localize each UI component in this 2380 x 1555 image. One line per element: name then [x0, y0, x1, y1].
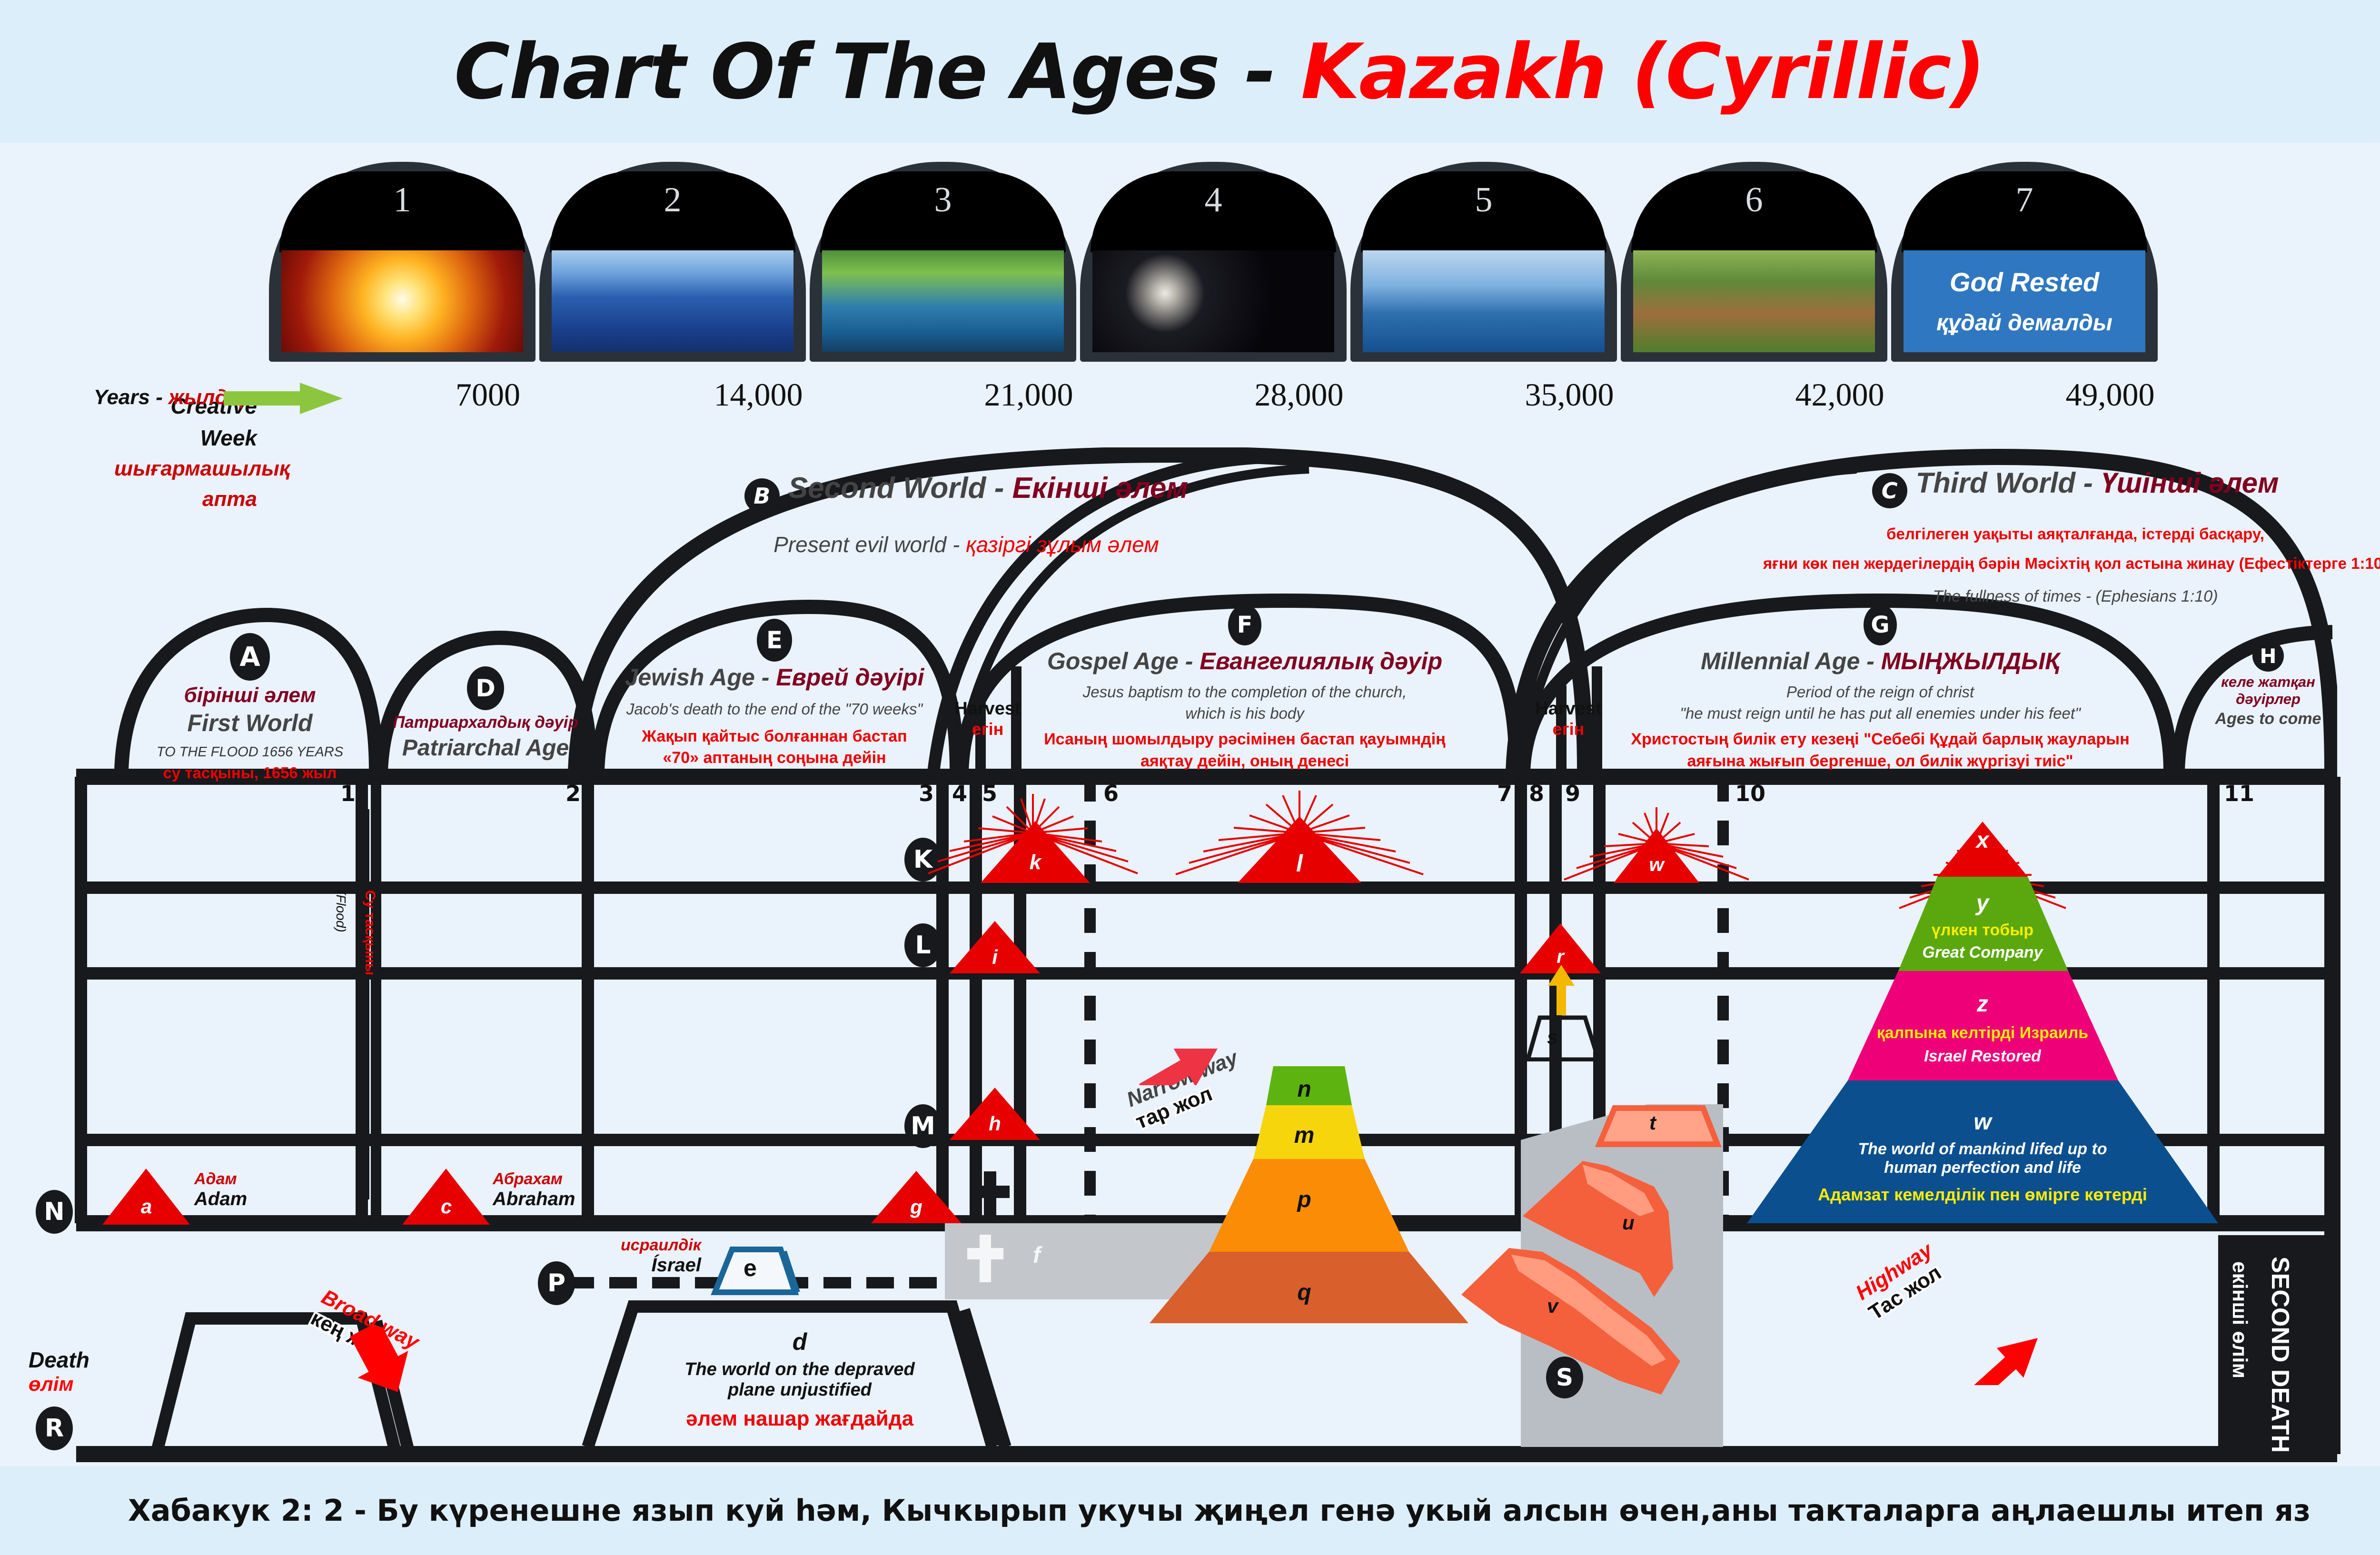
ages-to-come-en: Ages to come [2204, 710, 2332, 728]
creative-day-3: 3 [810, 162, 1076, 362]
israel-label: исраилдік Ísrael [596, 1236, 701, 1276]
gospel-sub-en-2: which is his body [1028, 703, 1461, 724]
death-label: Death өлім [29, 1347, 152, 1396]
marker-letter-v: v [1547, 1295, 1558, 1317]
footer-verse: Хабакук 2: 2 - Бу күренешне язып куй һәм… [0, 1466, 2380, 1555]
adam-label: Адам Adam [194, 1170, 247, 1210]
creative-day-4: 4 [1080, 162, 1347, 362]
pyramid-kz: үлкен тобыр [1932, 921, 2033, 940]
up-arrow-icon [1547, 964, 1576, 1016]
god-rested-kz: құдай демалды [1936, 310, 2112, 336]
marker-letter-t: t [1649, 1111, 1656, 1134]
marker-letter: g [871, 1196, 962, 1218]
third-world-header: CThird World - Үшінші әлем белгілеген уа… [1761, 466, 2380, 606]
jewish-title-en: Jewish Age - [625, 664, 776, 691]
badge-a: A [230, 633, 270, 681]
second-world-sub-en: Present evil world - [773, 532, 966, 557]
pyramid-letter: p [1297, 1187, 1311, 1213]
harvest-label-1: Harvest егін [942, 699, 1033, 739]
first-world-sub-kz: су тасқыны, 1656 жыл [138, 764, 362, 782]
harvest-kz: егін [942, 719, 1033, 739]
flood-label-en: (Flood) [333, 890, 348, 932]
pyramid-letter: w [1973, 1109, 1991, 1135]
marker-letter-u: u [1622, 1211, 1635, 1234]
second-world-title-kz: Екінші әлем [1012, 472, 1189, 505]
harvest-en: Harvest [942, 699, 1033, 719]
pyramid-letter: m [1294, 1122, 1315, 1149]
flood-label-kz: Су тасқыны [362, 890, 378, 975]
column-number-1: 1 [340, 781, 356, 806]
harvest-en: Harvest [1523, 699, 1614, 719]
ages-to-come-kz-2: дәуірлер [2204, 691, 2332, 708]
column-number-9: 9 [1565, 781, 1580, 806]
day-image-land-vegetation [822, 250, 1064, 352]
creative-week-label-kz-2: апта [114, 484, 257, 515]
cross-icon-grey [962, 1233, 1009, 1286]
gospel-title-en: Gospel Age - [1047, 648, 1200, 674]
cross-icon [964, 1169, 1016, 1226]
marker-stone-v [1457, 1238, 1695, 1414]
year-tick: 28,000 [1166, 376, 1432, 414]
pyramid-letter: q [1297, 1279, 1311, 1306]
adam-kz: Адам [194, 1170, 247, 1189]
israel-kz: исраилдік [596, 1236, 701, 1255]
creative-day-2: 2 [539, 162, 806, 362]
death-kz: өлім [29, 1373, 152, 1396]
pyramid-en-1: The world of mankind lifed up to [1858, 1140, 2107, 1159]
marker-letter: l [1238, 850, 1361, 877]
marker-letter: i [950, 946, 1040, 969]
creative-day-5: 5 [1350, 162, 1617, 362]
millennial-title-en: Millennial Age - [1701, 648, 1881, 674]
jewish-sub-kz-2: «70» аптаның соңына дейін [601, 747, 948, 769]
marker-letter: k [981, 851, 1090, 874]
first-world-title-en: First World [138, 709, 362, 737]
second-world-title-en: Second World - [788, 472, 1012, 505]
second-world-sub-kz: қазіргі зұлым әлем [966, 532, 1159, 557]
third-world-kz-line2: яғни көк пен жердегілердің бәрін Мәсіхті… [1761, 550, 2380, 577]
pyramid-seg-n: n [1257, 1075, 1352, 1103]
year-tick: 49,000 [1977, 376, 2243, 414]
badge-d: D [467, 666, 504, 710]
years-axis: Years - жылдар 7000 14,000 21,000 28,000… [0, 376, 2380, 428]
third-world-title-kz: Үшінші әлем [2101, 467, 2279, 499]
abraham-label: Абрахам Abraham [493, 1170, 575, 1210]
year-tick: 35,000 [1436, 376, 1703, 414]
depraved-en-1: The world on the depraved [633, 1359, 966, 1380]
pyramid-letter: y [1976, 890, 1989, 916]
day-number: 6 [1745, 180, 1763, 220]
gospel-sub-en-1: Jesus baptism to the completion of the c… [1028, 682, 1461, 703]
depraved-letter: d [633, 1328, 966, 1356]
marker-trapezoid-t [1595, 1104, 1723, 1147]
god-rested-en: God Rested [1950, 267, 2099, 297]
jewish-sub-en: Jacob's death to the end of the "70 week… [601, 699, 948, 720]
creative-week-section: Creative Week шығармашылық апта 1 2 3 4 [0, 162, 2380, 409]
age-ages-to-come: H келе жатқан дәуірлер Ages to come [2204, 640, 2332, 728]
pyramid-seg-p: p [1257, 1173, 1352, 1226]
creative-day-1: 1 [269, 162, 535, 362]
marker-triangle-a: a [102, 1169, 190, 1225]
day-image-sun-moon [1092, 250, 1334, 352]
harvest-kz: егін [1523, 719, 1614, 739]
pyramid-en-2: human perfection and life [1884, 1159, 2081, 1177]
marker-triangle-l: l [1238, 816, 1361, 883]
third-world-title-en: Third World - [1916, 467, 2101, 499]
pyramid-seg-m: m [1257, 1116, 1352, 1154]
ages-to-come-kz-1: келе жатқан [2204, 674, 2332, 691]
highway-arrow-icon [1961, 1304, 2056, 1385]
pyramid-letter: n [1297, 1076, 1311, 1102]
israel-en: Ísrael [596, 1255, 701, 1276]
marker-triangle-g: g [871, 1171, 962, 1223]
depraved-world-block: d The world on the depraved plane unjust… [633, 1328, 966, 1431]
day-image-god-rested: God Rested құдай демалды [1904, 250, 2145, 352]
patriarchal-title-kz: Патриархалдық дәуір [386, 713, 585, 732]
marker-letter: a [102, 1195, 190, 1218]
pyramid-seg-q: q [1257, 1268, 1352, 1316]
badge-e: E [757, 619, 792, 662]
row-badge-l: L [904, 923, 942, 967]
day-image-animals-man [1633, 250, 1875, 352]
day-number: 4 [1205, 180, 1222, 220]
pyramid-en: Great Company [1922, 943, 2043, 962]
creative-day-6: 6 [1621, 162, 1887, 362]
marker-triangle-w: w [1614, 828, 1699, 883]
row-badge-p: P [538, 1261, 575, 1305]
gospel-title-kz: Евангелиялық дәуір [1200, 648, 1442, 674]
year-tick: 14,000 [625, 376, 892, 414]
green-arrow-icon [224, 383, 343, 414]
marker-triangle-i: i [950, 921, 1040, 973]
millennial-sub-kz-2: аяғына жығып бергенше, ол билік жүргізуі… [1618, 751, 2142, 773]
badge-h: H [2252, 640, 2284, 672]
second-death-kz: екінші өлім [2228, 1261, 2251, 1378]
first-world-sub-en: TO THE FLOOD 1656 YEARS [138, 744, 362, 760]
millennial-seg-x: x [1856, 826, 2109, 854]
badge-b: B [744, 478, 780, 514]
pyramid-en: Israel Restored [1924, 1047, 2041, 1066]
verse-text: Хабакук 2: 2 - Бу күренешне язып куй һәм… [128, 1493, 2311, 1528]
day-number: 3 [934, 180, 952, 220]
harvest-label-2: Harvest егін [1523, 699, 1614, 739]
marker-letter-s: s [1547, 1026, 1558, 1049]
day-number: 1 [394, 180, 411, 220]
year-tick: 42,000 [1706, 376, 1973, 414]
year-tick: 21,000 [895, 376, 1162, 414]
millennial-sub-kz-1: Христостың билік ету кезеңі "Себебі Құда… [1618, 729, 2142, 751]
row-badge-r: R [36, 1406, 73, 1450]
title-highlight: Kazakh (Cyrillic) [1301, 27, 1984, 116]
jewish-sub-kz-1: Жақып қайтыс болғаннан бастап [601, 726, 948, 748]
marker-triangle-k: k [981, 821, 1090, 883]
marker-letter: c [402, 1195, 490, 1218]
age-patriarchal: D Патриархалдық дәуір Patriarchal Age [386, 666, 585, 761]
millennial-seg-z: z қалпына келтірді Израиль Israel Restor… [1823, 981, 2142, 1076]
depraved-kz: әлем нашар жағдайда [633, 1407, 966, 1431]
pyramid-letter: x [1976, 827, 1989, 853]
day-number: 7 [2016, 180, 2033, 220]
pyramid-kz: Адамзат кемелділік пен өмірге көтерді [1818, 1185, 2147, 1205]
badge-f: F [1228, 604, 1261, 645]
chart-of-the-ages: Chart Of The Ages - Kazakh (Cyrillic) Cr… [0, 0, 2380, 1555]
badge-g: G [1864, 604, 1897, 645]
millennial-sub-en-1: Period of the reign of christ [1618, 682, 2142, 703]
marker-letter: h [950, 1112, 1040, 1135]
gospel-sub-kz-2: аяқтау дейін, оның денесі [1028, 751, 1461, 773]
creative-day-7: 7 God Rested құдай демалды [1891, 162, 2158, 362]
day-image-firmament [552, 250, 793, 352]
third-world-en-line: The fullness of times - (Ephesians 1:10) [1761, 587, 2380, 606]
age-jewish: E Jewish Age - Еврей дәуірі Jacob's deat… [601, 619, 948, 769]
first-world-title-kz: бірінші әлем [138, 683, 362, 707]
column-number-10: 10 [1735, 781, 1765, 806]
adam-en: Adam [194, 1189, 247, 1210]
abraham-en: Abraham [493, 1189, 575, 1210]
day-number: 2 [664, 180, 682, 220]
badge-c: C [1872, 473, 1907, 508]
page-title: Chart Of The Ages - Kazakh (Cyrillic) [0, 0, 2380, 143]
age-gospel: F Gospel Age - Евангелиялық дәуір Jesus … [1028, 604, 1461, 773]
gospel-sub-kz-1: Исаның шомылдыру рәсімінен бастап қауымн… [1028, 729, 1461, 751]
row-badge-n: N [36, 1190, 73, 1234]
millennial-title-kz: МЫҢЖЫЛДЫҚ [1881, 648, 2060, 674]
year-tick: 7000 [355, 376, 621, 414]
millennial-seg-y: y үлкен тобыр Great Company [1856, 883, 2109, 969]
third-world-kz-line1: белгілеген уақыты аяқталғанда, істерді б… [1761, 521, 2380, 547]
narrow-way-arrow-icon [1133, 1014, 1228, 1085]
column-number-11: 11 [2224, 781, 2254, 806]
patriarchal-title-en: Patriarchal Age [386, 735, 585, 761]
pyramid-kz: қалпына келтірді Израиль [1877, 1024, 2088, 1042]
title-main: Chart Of The Ages - [454, 27, 1301, 116]
marker-letter-e: e [744, 1254, 757, 1282]
marker-letter-f: f [1033, 1242, 1041, 1268]
pyramid-letter: z [1977, 991, 1988, 1017]
jewish-title-kz: Еврей дәуірі [776, 664, 924, 691]
marker-trapezoid-s [1514, 1014, 1609, 1061]
depraved-en-2: plane unjustified [633, 1380, 966, 1400]
age-millennial: G Millennial Age - МЫҢЖЫЛДЫҚ Period of t… [1618, 604, 2142, 773]
creative-week-label-kz-1: шығармашылық [114, 454, 257, 484]
day-image-birds-fish [1363, 250, 1605, 352]
second-world-header: BSecond World - Екінші әлем Present evil… [681, 471, 1252, 557]
column-number-7: 7 [1497, 781, 1512, 806]
day-number: 5 [1475, 180, 1493, 220]
second-death-en: SECOND DEATH [2266, 1257, 2294, 1453]
column-number-2: 2 [565, 781, 581, 806]
millennial-seg-w: w The world of mankind lifed up to human… [1761, 1097, 2204, 1216]
millennial-sub-en-2: "he must reign until he has put all enem… [1618, 703, 2142, 724]
column-number-8: 8 [1529, 781, 1544, 806]
row-badge-m: M [904, 1104, 942, 1148]
years-label-en: Years - [94, 386, 169, 409]
death-en: Death [29, 1347, 152, 1373]
age-first-world: A бірінші әлем First World TO THE FLOOD … [138, 633, 362, 782]
marker-triangle-c: c [402, 1169, 490, 1225]
day-image-light [281, 250, 523, 352]
marker-triangle-h: h [950, 1088, 1040, 1140]
marker-letter: w [1614, 854, 1699, 876]
abraham-kz: Абрахам [493, 1170, 575, 1189]
